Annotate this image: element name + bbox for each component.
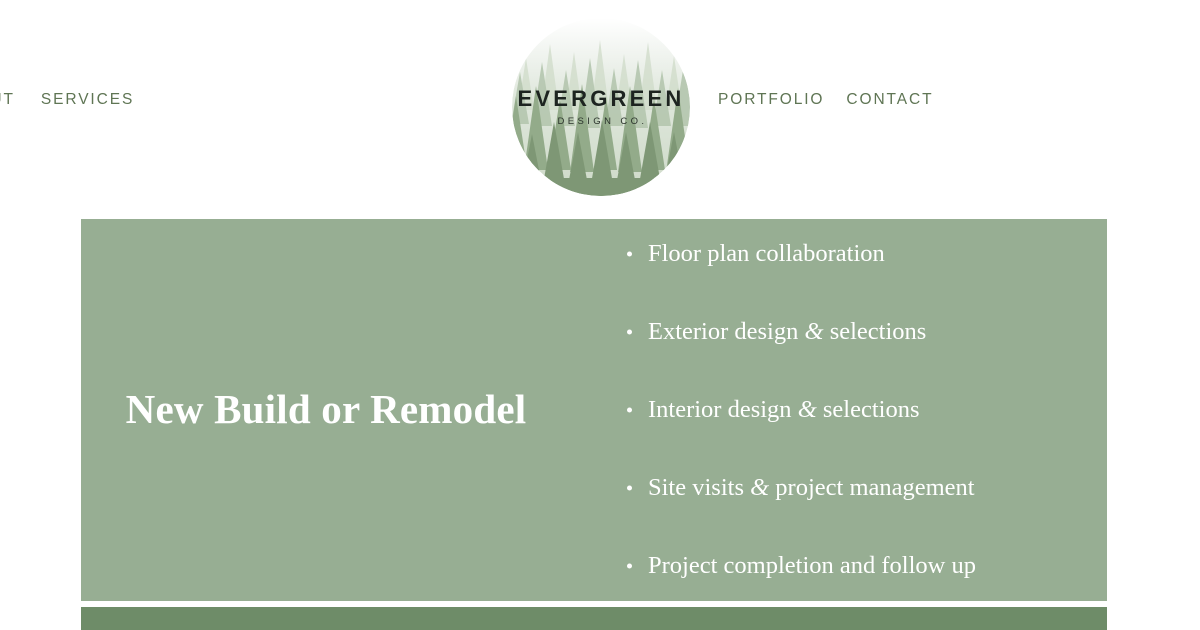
page-title: New Build or Remodel: [126, 387, 527, 432]
ampersand-glyph: &: [798, 396, 817, 423]
ampersand-glyph: &: [805, 318, 824, 345]
primary-navigation-left: ABOUT SERVICES: [0, 92, 134, 108]
service-list: Floor plan collaboration Exterior design…: [627, 242, 1107, 579]
site-logo[interactable]: EVERGREEN DESIGN CO.: [512, 18, 690, 196]
nav-link-contact[interactable]: CONTACT: [846, 92, 933, 108]
list-item: Floor plan collaboration: [627, 242, 1107, 267]
services-panel: New Build or Remodel Floor plan collabor…: [81, 219, 1107, 601]
lower-accent-band: [81, 607, 1107, 630]
site-header: ABOUT SERVICES: [0, 0, 1200, 200]
services-panel-list-column: Floor plan collaboration Exterior design…: [581, 219, 1107, 601]
nav-link-portfolio[interactable]: PORTFOLIO: [718, 92, 824, 108]
list-item: Project completion and follow up: [627, 554, 1107, 579]
primary-navigation-right: PORTFOLIO CONTACT: [718, 92, 933, 108]
list-item: Site visits & project management: [627, 476, 1107, 501]
list-item: Interior design & selections: [627, 398, 1107, 423]
services-panel-title-column: New Build or Remodel: [81, 219, 581, 601]
list-item: Exterior design & selections: [627, 320, 1107, 345]
ampersand-glyph: &: [750, 474, 769, 501]
nav-link-about[interactable]: ABOUT: [0, 92, 15, 108]
pine-forest-photo-icon: [512, 18, 690, 196]
logo-circle: [512, 18, 690, 196]
services-panel-inner: New Build or Remodel Floor plan collabor…: [81, 219, 1107, 601]
nav-link-services[interactable]: SERVICES: [41, 92, 134, 108]
